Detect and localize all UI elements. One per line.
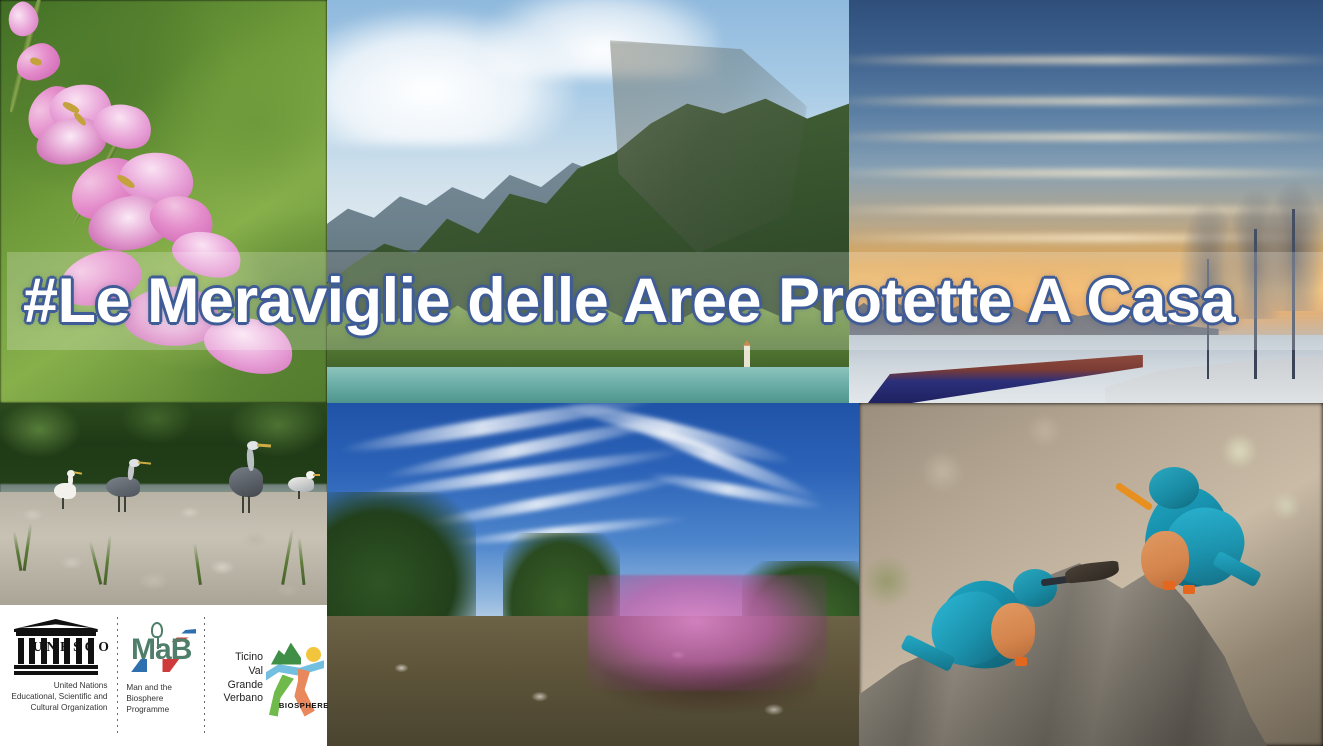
unesco-caption-line: Educational, Scientific and bbox=[0, 692, 107, 703]
reserve-name-line: Ticino bbox=[211, 651, 263, 665]
background-forest bbox=[0, 403, 327, 492]
mab-caption-line: Man and the bbox=[126, 683, 198, 694]
unesco-caption: United Nations Educational, Scientific a… bbox=[0, 675, 111, 714]
leaf-swoosh-icon bbox=[269, 675, 295, 717]
gravel-bar bbox=[0, 492, 327, 606]
logo-bar: UNESCO United Nations Educational, Scien… bbox=[0, 605, 327, 746]
biosphere-swoosh-icon: BIOSPHERE bbox=[265, 639, 327, 719]
unesco-wordmark: UNESCO bbox=[14, 639, 132, 655]
sun-icon bbox=[306, 647, 321, 662]
reserve-name-line: Val Grande bbox=[211, 665, 263, 692]
poster-title: #Le Meraviglie delle Aree Protette A Cas… bbox=[7, 270, 1235, 333]
cloud-streak bbox=[849, 169, 1323, 177]
logo-divider bbox=[204, 617, 205, 735]
reserve-name-line: Verbano bbox=[211, 692, 263, 706]
title-banner: #Le Meraviglie delle Aree Protette A Cas… bbox=[7, 252, 1323, 350]
flowering-heather-bush bbox=[588, 575, 827, 692]
unesco-logo: UNESCO United Nations Educational, Scien… bbox=[0, 605, 111, 746]
biosphere-reserve-name: Ticino Val Grande Verbano bbox=[211, 651, 263, 705]
cloud-streak bbox=[849, 97, 1323, 105]
photo-flowering-heather-field bbox=[327, 403, 859, 746]
mab-caption-line: Biosphere bbox=[126, 694, 198, 705]
cloud-streak bbox=[849, 56, 1323, 64]
mab-logo: MaB Man and the Biosphere Programme bbox=[124, 605, 198, 746]
unesco-temple-icon: UNESCO bbox=[14, 619, 98, 675]
unesco-caption-line: Cultural Organization bbox=[0, 703, 107, 714]
mountain-icon bbox=[271, 643, 301, 665]
photo-grey-herons-gravel-bank bbox=[0, 403, 327, 606]
mab-caption-line: Programme bbox=[126, 705, 198, 716]
mab-caption: Man and the Biosphere Programme bbox=[124, 677, 198, 716]
biosphere-badge-word: BIOSPHERE bbox=[279, 701, 329, 710]
logo-divider bbox=[117, 617, 118, 735]
unesco-caption-line: United Nations bbox=[0, 681, 107, 692]
biosphere-reserve-logo: Ticino Val Grande Verbano BIOSPHERE bbox=[211, 605, 327, 746]
photo-kingfishers-pair bbox=[859, 403, 1323, 746]
cloud-streak bbox=[849, 133, 1323, 141]
poster-root: #Le Meraviglie delle Aree Protette A Cas… bbox=[0, 0, 1323, 746]
mab-mark-icon: MaB bbox=[129, 621, 193, 677]
river-water bbox=[327, 367, 849, 403]
